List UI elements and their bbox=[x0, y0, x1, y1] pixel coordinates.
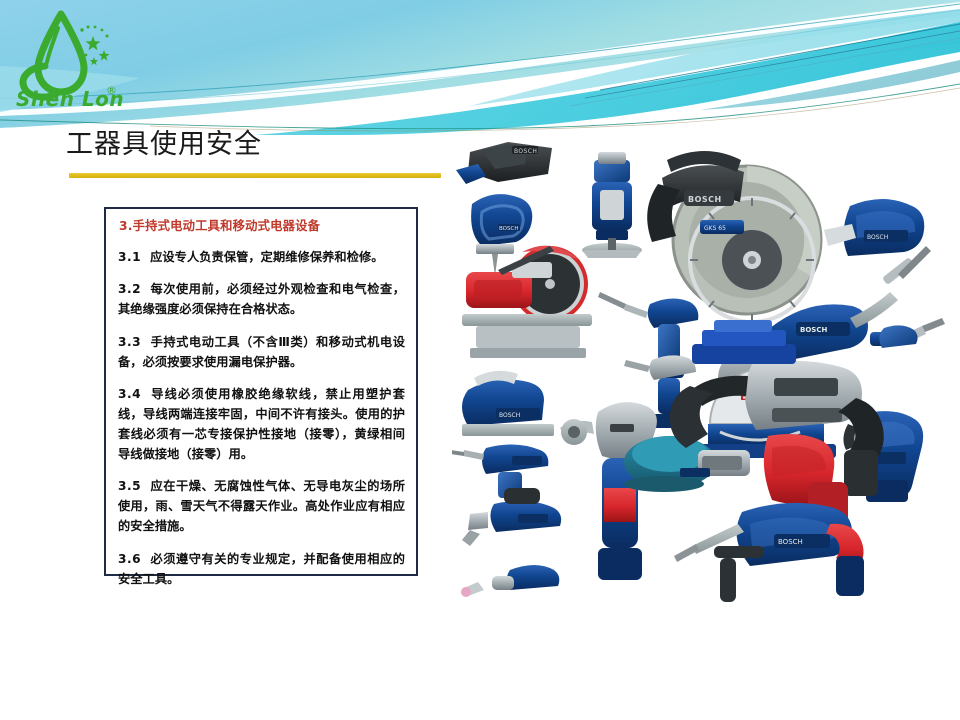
tool-sds-rotary-hammer: BOSCH bbox=[674, 503, 864, 602]
tool-jigsaw-dark: BOSCH bbox=[456, 142, 552, 184]
clause-text: 应在干燥、无腐蚀性气体、无导电灰尘的场所使用，雨、雪天气不得露天作业。高处作业应… bbox=[118, 479, 405, 533]
clause-text: 应设专人负责保管，定期维修保养和检修。 bbox=[150, 250, 383, 264]
tool-router bbox=[582, 152, 642, 258]
clause-3-4: 3.4导线必须使用橡胶绝缘软线，禁止用塑护套线，导线两端连接牢固，中间不许有接头… bbox=[118, 385, 405, 464]
company-logo: Shen Long ® bbox=[14, 8, 124, 113]
svg-text:BOSCH: BOSCH bbox=[688, 195, 722, 204]
header-decoration bbox=[0, 0, 960, 135]
presentation-slide: Shen Long ® 工器具使用安全 3.手持式电动工具和移动式电器设备 3.… bbox=[0, 0, 960, 720]
content-text-box: 3.手持式电动工具和移动式电器设备 3.1应设专人负责保管，定期维修保养和检修。… bbox=[104, 207, 418, 576]
clause-text: 每次使用前，必须经过外观检查和电气检查，其绝缘强度必须保持在合格状态。 bbox=[118, 282, 405, 316]
tool-circular-saw: BOSCH GKS 65 bbox=[647, 151, 821, 322]
power-tools-collage-image: BOSCH BOSCH bbox=[452, 132, 952, 612]
registered-mark: ® bbox=[106, 84, 117, 97]
svg-text:BOSCH: BOSCH bbox=[499, 412, 520, 419]
tool-planer: BOSCH bbox=[462, 371, 554, 436]
clause-number: 3.2 bbox=[118, 282, 141, 296]
clause-text: 手持式电动工具（不含Ⅲ类）和移动式机电设备，必须按要求使用漏电保护器。 bbox=[118, 335, 405, 369]
svg-text:GKS 65: GKS 65 bbox=[704, 225, 726, 232]
tool-angle-grinder bbox=[560, 402, 657, 580]
clause-number: 3.6 bbox=[118, 552, 141, 566]
clause-text: 必须遵守有关的专业规定，并配备使用相应的安全工具。 bbox=[118, 552, 405, 586]
clause-3-1: 3.1应设专人负责保管，定期维修保养和检修。 bbox=[118, 248, 405, 268]
tool-die-grinder bbox=[461, 565, 559, 597]
tool-reciprocating-saw: BOSCH bbox=[824, 199, 924, 256]
clause-3-6: 3.6必须遵守有关的专业规定，并配备使用相应的安全工具。 bbox=[118, 550, 405, 590]
clause-3-2: 3.2每次使用前，必须经过外观检查和电气检查，其绝缘强度必须保持在合格状态。 bbox=[118, 280, 405, 320]
clause-number: 3.1 bbox=[118, 250, 141, 264]
svg-text:BOSCH: BOSCH bbox=[499, 226, 518, 232]
title-block: 工器具使用安全 bbox=[66, 128, 486, 178]
clause-3-3: 3.3手持式电动工具（不含Ⅲ类）和移动式机电设备，必须按要求使用漏电保护器。 bbox=[118, 333, 405, 373]
clause-number: 3.5 bbox=[118, 479, 141, 493]
clause-3-5: 3.5应在干燥、无腐蚀性气体、无导电灰尘的场所使用，雨、雪天气不得露天作业。高处… bbox=[118, 477, 405, 536]
clause-text: 导线必须使用橡胶绝缘软线，禁止用塑护套线，导线两端连接牢固，中间不许有接头。使用… bbox=[118, 387, 405, 460]
tool-metal-shear bbox=[462, 488, 561, 546]
tool-misc-blue bbox=[879, 325, 917, 348]
tool-chop-saw bbox=[462, 246, 592, 358]
svg-text:BOSCH: BOSCH bbox=[514, 148, 537, 155]
clause-number: 3.4 bbox=[118, 387, 141, 401]
svg-text:BOSCH: BOSCH bbox=[867, 234, 888, 241]
section-heading: 3.手持式电动工具和移动式电器设备 bbox=[119, 218, 405, 235]
title-underline bbox=[69, 173, 441, 178]
svg-text:BOSCH: BOSCH bbox=[778, 538, 803, 546]
clause-number: 3.3 bbox=[118, 335, 141, 349]
page-title: 工器具使用安全 bbox=[66, 128, 486, 162]
droplet-icon bbox=[23, 14, 84, 97]
svg-text:BOSCH: BOSCH bbox=[800, 326, 827, 334]
